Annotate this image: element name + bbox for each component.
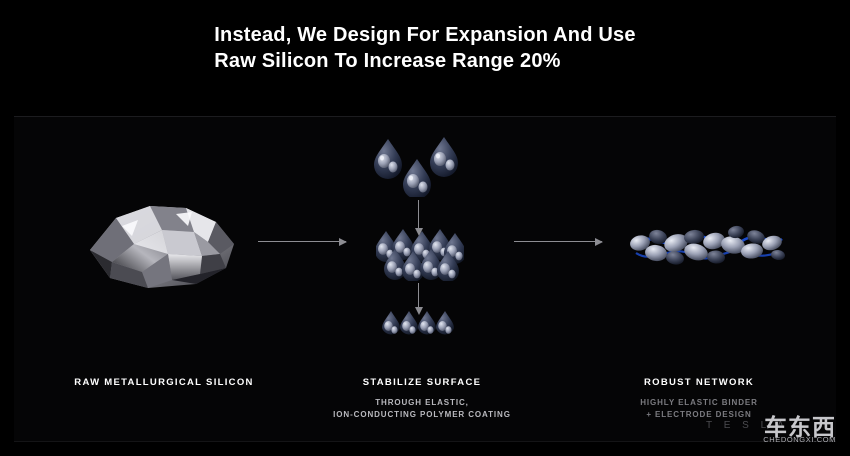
title-line-2: Raw Silicon To Increase Range 20% (214, 48, 635, 74)
caption-heading: ROBUST NETWORK (559, 377, 839, 388)
robust-network-illustration (626, 213, 786, 275)
watermark-cn-latin: CHEDONGXI.COM (763, 435, 836, 444)
slide: Instead, We Design For Expansion And Use… (0, 0, 850, 456)
coated-particles-illustration (376, 229, 464, 281)
polymer-droplets-illustration (372, 135, 466, 197)
arrow-down-particles-to-coated (418, 283, 419, 307)
caption-stabilize-surface: STABILIZE SURFACE THROUGH ELASTIC, ION-C… (282, 377, 562, 421)
arrow-down-drops-to-particles (418, 200, 419, 228)
caption-heading: RAW METALLURGICAL SILICON (24, 377, 304, 388)
arrow-right-step1-to-step2 (258, 241, 346, 242)
diagram-stage: RAW METALLURGICAL SILICON STABILIZE SURF… (14, 117, 836, 441)
title-line-1: Instead, We Design For Expansion And Use (214, 22, 635, 48)
diagram-panel: RAW METALLURGICAL SILICON STABILIZE SURF… (14, 116, 836, 442)
chedongxi-watermark: 车东西 CHEDONGXI.COM (722, 406, 842, 448)
caption-subtext: THROUGH ELASTIC, ION-CONDUCTING POLYMER … (282, 397, 562, 421)
raw-silicon-rock-illustration (76, 192, 261, 297)
arrow-right-step2-to-step3 (514, 241, 602, 242)
caption-raw-silicon: RAW METALLURGICAL SILICON (24, 377, 304, 388)
slide-title: Instead, We Design For Expansion And Use… (0, 22, 850, 74)
stabilized-particles-illustration (382, 309, 458, 341)
caption-heading: STABILIZE SURFACE (282, 377, 562, 388)
